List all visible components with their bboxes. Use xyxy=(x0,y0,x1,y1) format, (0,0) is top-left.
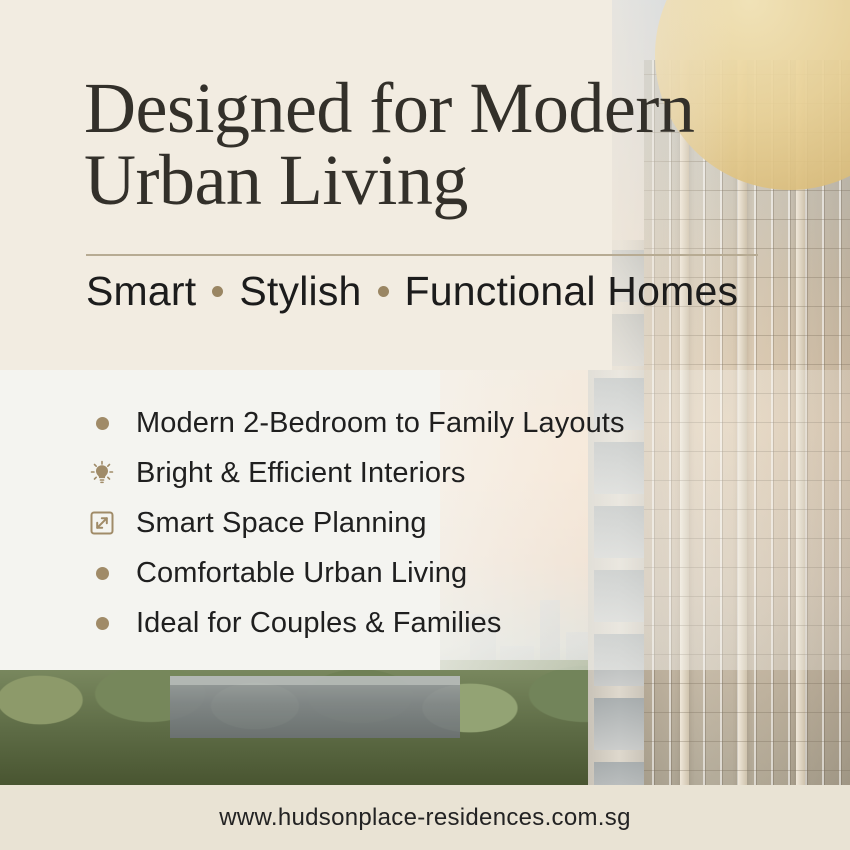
tower-floor-line xyxy=(644,770,850,771)
low-rise-building xyxy=(170,676,460,738)
lightbulb-icon xyxy=(88,460,116,486)
promo-poster: Designed for Modern Urban Living Smart S… xyxy=(0,0,850,850)
bullet-dot-icon xyxy=(96,417,109,430)
bullet-dot-icon xyxy=(96,617,109,630)
feature-item: Smart Space Planning xyxy=(88,498,728,548)
tower-floor-line xyxy=(644,712,850,713)
feature-label: Bright & Efficient Interiors xyxy=(136,457,465,490)
bullet-dot-icon xyxy=(212,286,223,297)
subtitle: Smart Stylish Functional Homes xyxy=(86,268,738,315)
feature-item: Bright & Efficient Interiors xyxy=(88,448,728,498)
bullet-dot-icon xyxy=(96,567,109,580)
feature-item: Modern 2-Bedroom to Family Layouts xyxy=(88,398,728,448)
feature-list: Modern 2-Bedroom to Family Layouts Brigh… xyxy=(88,398,728,648)
bullet-dot-icon xyxy=(88,567,116,580)
subtitle-part-1: Smart xyxy=(86,268,196,315)
lightbulb-icon xyxy=(89,460,115,486)
expand-arrows-icon xyxy=(88,510,116,536)
subtitle-part-3: Functional Homes xyxy=(405,268,739,315)
feature-label: Ideal for Couples & Families xyxy=(136,607,501,640)
tower-floor-line xyxy=(644,741,850,742)
subtitle-part-2: Stylish xyxy=(239,268,361,315)
bullet-dot-icon xyxy=(378,286,389,297)
bullet-dot-icon xyxy=(88,417,116,430)
divider-rule xyxy=(86,254,758,256)
expand-arrows-icon xyxy=(89,510,115,536)
feature-label: Modern 2-Bedroom to Family Layouts xyxy=(136,407,625,440)
page-title: Designed for Modern Urban Living xyxy=(84,72,784,216)
tower-floor-line xyxy=(644,683,850,684)
footer-band: www.hudsonplace-residences.com.sg xyxy=(0,785,850,850)
website-url[interactable]: www.hudsonplace-residences.com.sg xyxy=(219,804,630,832)
feature-label: Comfortable Urban Living xyxy=(136,557,467,590)
feature-label: Smart Space Planning xyxy=(136,507,427,540)
feature-item: Ideal for Couples & Families xyxy=(88,598,728,648)
feature-item: Comfortable Urban Living xyxy=(88,548,728,598)
bullet-dot-icon xyxy=(88,617,116,630)
